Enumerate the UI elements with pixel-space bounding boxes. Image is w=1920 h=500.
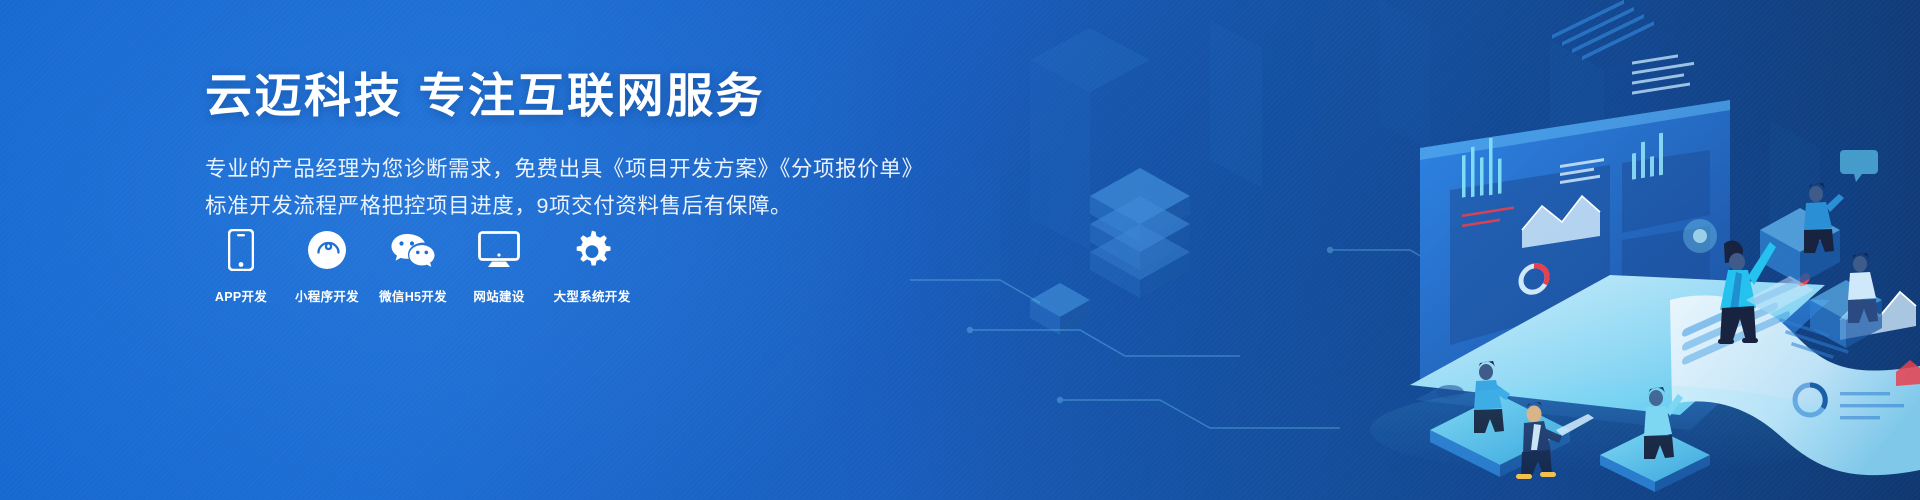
service-label: 网站建设 (473, 286, 524, 305)
service-item-mini-program[interactable]: 小程序开发 (291, 228, 363, 305)
wechat-icon (390, 228, 436, 272)
mobile-phone-icon (228, 228, 254, 272)
service-item-app[interactable]: APP开发 (205, 228, 277, 305)
service-item-website[interactable]: 网站建设 (463, 228, 535, 305)
service-label: 微信H5开发 (379, 286, 447, 305)
hero-banner: 云迈科技 专注互联网服务 专业的产品经理为您诊断需求，免费出具《项目开发方案》《… (0, 0, 1920, 500)
gear-icon (571, 228, 613, 272)
banner-content: 云迈科技 专注互联网服务 专业的产品经理为您诊断需求，免费出具《项目开发方案》《… (205, 68, 925, 225)
subtitle-line-1: 专业的产品经理为您诊断需求，免费出具《项目开发方案》《分项报价单》 (205, 151, 925, 188)
mini-program-icon (307, 228, 347, 272)
service-item-wechat-h5[interactable]: 微信H5开发 (377, 228, 449, 305)
small-cube (1030, 283, 1090, 335)
banner-subtitle: 专业的产品经理为您诊断需求，免费出具《项目开发方案》《分项报价单》 标准开发流程… (205, 151, 925, 225)
service-label: APP开发 (215, 286, 267, 305)
subtitle-line-2: 标准开发流程严格把控项目进度，9项交付资料售后有保障。 (205, 188, 925, 225)
isometric-illustration (910, 0, 1920, 500)
service-list: APP开发 小程序开发 微信 (205, 228, 635, 305)
monitor-icon (478, 228, 520, 272)
service-label: 大型系统开发 (554, 286, 631, 305)
service-label: 小程序开发 (295, 286, 359, 305)
service-item-large-system[interactable]: 大型系统开发 (549, 228, 635, 305)
page-title: 云迈科技 专注互联网服务 (205, 68, 925, 124)
